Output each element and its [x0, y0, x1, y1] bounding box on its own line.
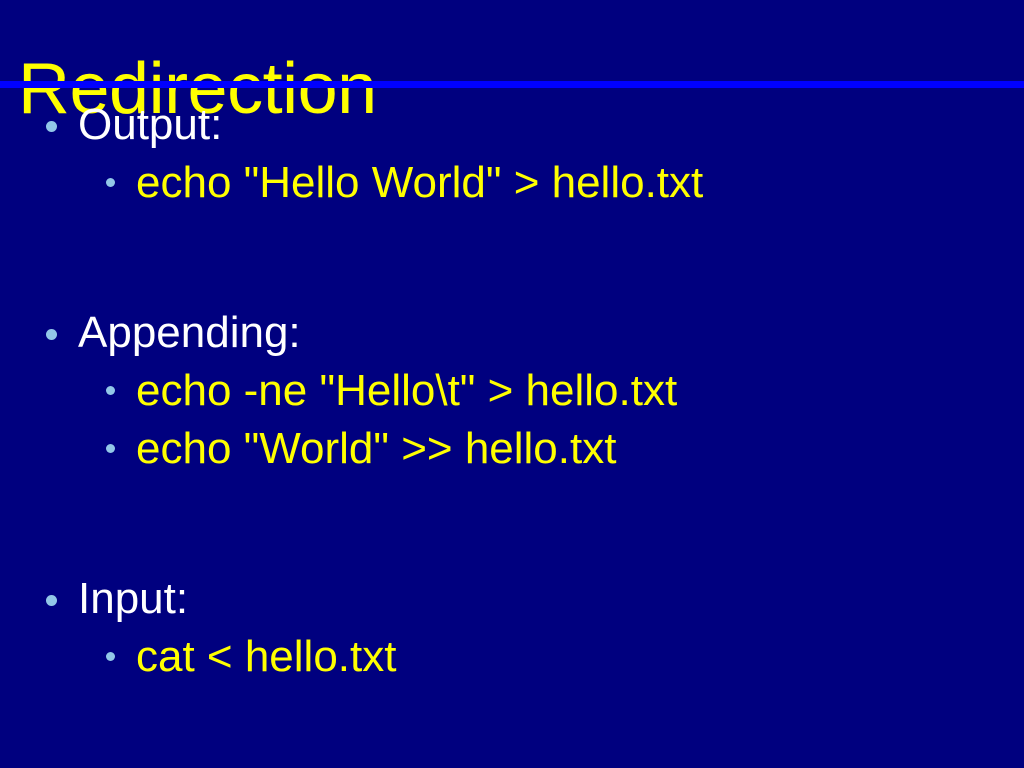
bullet-item-echo-ne-hello-tab: echo -ne "Hello\t" > hello.txt	[0, 362, 1024, 420]
bullet-text: echo -ne "Hello\t" > hello.txt	[136, 362, 677, 420]
bullet-dot-icon	[106, 652, 115, 661]
bullet-text: Input:	[78, 570, 188, 628]
bullet-dot-icon	[106, 386, 115, 395]
bullet-item-cat-hello: cat < hello.txt	[0, 628, 1024, 686]
bullet-dot-icon	[46, 595, 57, 606]
bullet-spacer	[0, 212, 1024, 270]
bullet-item-appending: Appending:	[0, 304, 1024, 362]
bullet-dot-icon	[106, 178, 115, 187]
slide-body: Output: echo "Hello World" > hello.txt A…	[0, 96, 1024, 686]
bullet-text: Appending:	[78, 304, 301, 362]
bullet-item-input: Input:	[0, 570, 1024, 628]
bullet-spacer	[0, 536, 1024, 570]
bullet-dot-icon	[106, 444, 115, 453]
bullet-spacer	[0, 270, 1024, 304]
bullet-text: echo "Hello World" > hello.txt	[136, 154, 703, 212]
bullet-dot-icon	[46, 121, 57, 132]
bullet-item-echo-world-append: echo "World" >> hello.txt	[0, 420, 1024, 478]
bullet-text: echo "World" >> hello.txt	[136, 420, 616, 478]
bullet-spacer	[0, 478, 1024, 536]
bullet-dot-icon	[46, 329, 57, 340]
title-divider-rule	[0, 81, 1024, 88]
bullet-item-output: Output:	[0, 96, 1024, 154]
bullet-item-echo-hello-world: echo "Hello World" > hello.txt	[0, 154, 1024, 212]
bullet-text: cat < hello.txt	[136, 628, 396, 686]
slide: Redirection Output: echo "Hello World" >…	[0, 0, 1024, 768]
bullet-text: Output:	[78, 96, 222, 154]
